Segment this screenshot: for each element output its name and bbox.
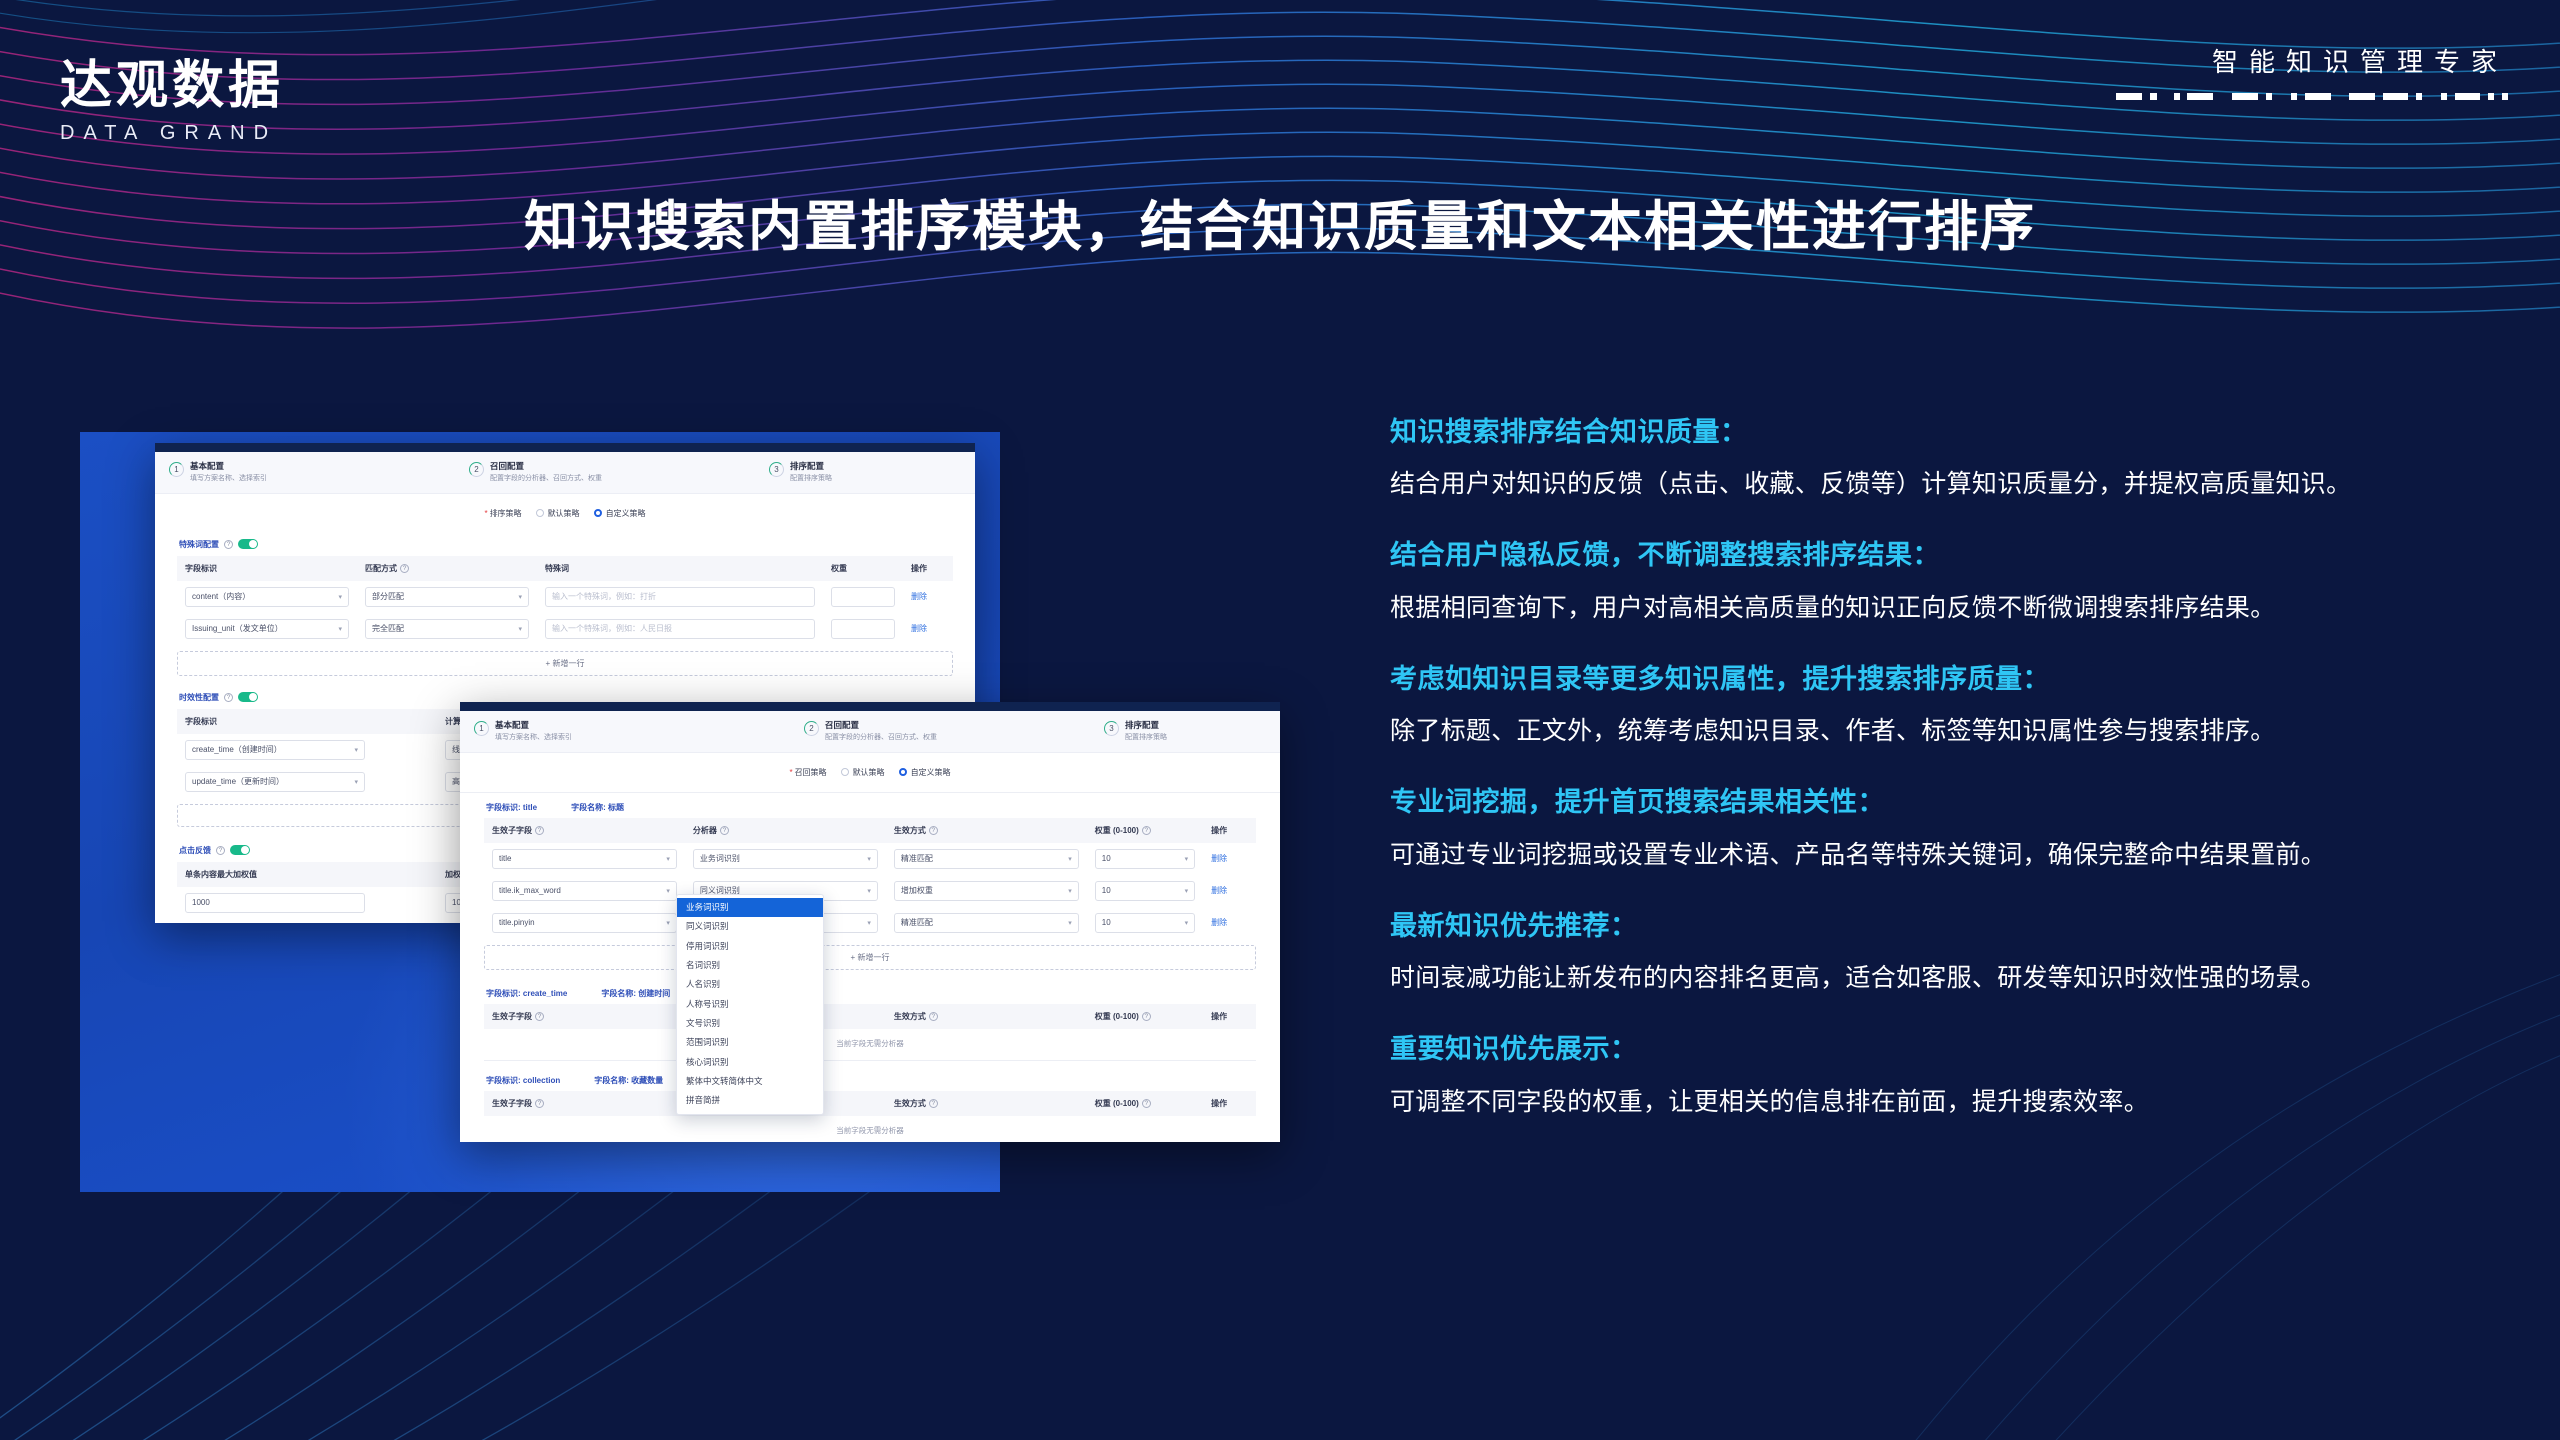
col-mode: 生效方式?	[886, 818, 1087, 843]
chevron-down-icon: ▾	[354, 746, 358, 754]
col-subfield: 生效子字段?	[484, 1091, 685, 1116]
chevron-down-icon: ▾	[338, 593, 342, 601]
match-mode-select[interactable]: 完全匹配▾	[365, 619, 529, 639]
radio-dot	[536, 509, 544, 517]
step-subtitle: 填写方案名称、选择索引	[190, 474, 267, 483]
strategy-label: *召回策略	[789, 767, 826, 778]
dropdown-option[interactable]: 核心词识别	[677, 1053, 823, 1072]
col-action: 操作	[1203, 818, 1256, 843]
step-title: 基本配置	[190, 461, 267, 472]
delete-row-link[interactable]: 删除	[1211, 918, 1227, 927]
col-field-id: 字段标识	[177, 709, 437, 734]
tagline-text: 智能知识管理专家	[2116, 42, 2508, 79]
chevron-down-icon: ▾	[1068, 855, 1072, 863]
create-time-table: 生效子字段? 生效方式? 权重 (0-100)? 操作	[484, 1004, 1256, 1029]
table-header-row: 生效子字段? 分析器? 生效方式? 权重 (0-100)? 操作	[484, 818, 1256, 843]
step-subtitle: 配置字段的分析器、召回方式、权重	[490, 474, 602, 483]
section-title: 时效性配置	[179, 692, 219, 703]
subfield-select[interactable]: title.pinyin▾	[492, 913, 677, 933]
radio-dot	[899, 768, 907, 776]
radio-label: 默认策略	[548, 508, 580, 519]
chevron-down-icon: ▾	[518, 593, 522, 601]
subfield-select[interactable]: title.ik_max_word▾	[492, 881, 677, 901]
copy-heading: 知识搜索排序结合知识质量：	[1390, 415, 2520, 451]
dropdown-option[interactable]: 停用词识别	[677, 937, 823, 956]
brand-name-cn: 达观数据	[60, 60, 284, 112]
step-number: 2	[469, 462, 484, 477]
radio-dot	[841, 768, 849, 776]
table-header-row: 生效子字段? 生效方式? 权重 (0-100)? 操作	[484, 1004, 1256, 1029]
stepper-back: 1 基本配置 填写方案名称、选择索引 2 召回配置 配置字段的分析器、召回方式、…	[155, 452, 975, 494]
radio-dot	[594, 509, 602, 517]
chevron-down-icon: ▾	[666, 919, 670, 927]
field-header-title: 字段标识: title 字段名称: 标题	[484, 793, 1256, 818]
dropdown-option[interactable]: 范围词识别	[677, 1033, 823, 1052]
field-id-label: 字段标识: title	[486, 802, 537, 813]
help-icon[interactable]: ?	[720, 826, 729, 835]
col-mode: 生效方式?	[886, 1004, 1087, 1029]
add-row-button[interactable]: + 新增一行	[177, 651, 953, 676]
step-number: 1	[474, 721, 489, 736]
tagline-block: 智能知识管理专家	[2116, 42, 2508, 100]
strategy-radio-group-front[interactable]: *召回策略 默认策略 自定义策略	[460, 753, 1280, 790]
step-number: 1	[169, 462, 184, 477]
step-item[interactable]: 2 召回配置 配置字段的分析器、召回方式、权重	[804, 720, 1104, 743]
copy-body: 时间衰减功能让新发布的内容排名更高，适合如客服、研发等知识时效性强的场景。	[1390, 961, 2520, 996]
radio-default-strategy[interactable]: 默认策略	[841, 767, 885, 778]
section-toggle[interactable]	[230, 845, 250, 855]
chevron-down-icon: ▾	[1068, 919, 1072, 927]
no-analyzer-note: 当前字段无需分析器	[484, 1116, 1256, 1142]
chevron-down-icon: ▾	[666, 855, 670, 863]
delete-row-link[interactable]: 删除	[1211, 854, 1227, 863]
help-icon[interactable]: ?	[535, 826, 544, 835]
delete-row-link[interactable]: 删除	[911, 624, 927, 633]
collection-table: 生效子字段? 生效方式? 权重 (0-100)? 操作	[484, 1091, 1256, 1116]
chevron-down-icon: ▾	[1185, 855, 1189, 863]
help-icon[interactable]: ?	[535, 1099, 544, 1108]
step-subtitle: 配置排序策略	[790, 474, 832, 483]
weight-input[interactable]	[831, 619, 895, 639]
section-header-special-words: 特殊词配置 ?	[177, 531, 953, 556]
help-icon[interactable]: ?	[224, 540, 233, 549]
step-title: 基本配置	[495, 720, 572, 731]
page-title: 知识搜索内置排序模块，结合知识质量和文本相关性进行排序	[0, 182, 2560, 261]
table-row: Issuing_unit（发文单位）▾ 完全匹配▾ 输入一个特殊词，例如：人民日…	[177, 613, 953, 645]
table-header-row: 生效子字段? 生效方式? 权重 (0-100)? 操作	[484, 1091, 1256, 1116]
copy-body: 结合用户对知识的反馈（点击、收藏、反馈等）计算知识质量分，并提权高质量知识。	[1390, 467, 2520, 502]
dropdown-option[interactable]: 同义词识别	[677, 917, 823, 936]
help-icon[interactable]: ?	[1142, 826, 1151, 835]
weight-select[interactable]: 10▾	[1095, 881, 1195, 901]
chevron-down-icon: ▾	[867, 919, 871, 927]
table-row: content（内容）▾ 部分匹配▾ 输入一个特殊词，例如：打折 删除	[177, 581, 953, 613]
step-number: 3	[769, 462, 784, 477]
help-icon[interactable]: ?	[929, 826, 938, 835]
chevron-down-icon: ▾	[1185, 887, 1189, 895]
required-star: *	[789, 768, 792, 777]
col-action: 操作	[1203, 1004, 1256, 1029]
step-item[interactable]: 1 基本配置 填写方案名称、选择索引	[474, 720, 804, 743]
copy-body: 可通过专业词挖掘或设置专业术语、产品名等特殊关键词，确保完整命中结果置前。	[1390, 838, 2520, 873]
analyzer-select[interactable]: 业务词识别▾	[693, 849, 878, 869]
stepper-front: 1 基本配置 填写方案名称、选择索引 2 召回配置 配置字段的分析器、召回方式、…	[460, 711, 1280, 753]
section-title: 点击反馈	[179, 845, 211, 856]
field-id-select[interactable]: create_time（创建时间）▾	[185, 740, 365, 760]
brand-name-en: DATA GRAND	[60, 122, 284, 145]
chevron-down-icon: ▾	[1068, 887, 1072, 895]
dropdown-option[interactable]: 拼音简拼	[677, 1091, 823, 1110]
table-row: title.pinyin▾ 业务词识别▾ 精准匹配▾ 10▾ 删除	[484, 907, 1256, 939]
help-icon[interactable]: ?	[1142, 1012, 1151, 1021]
col-mode: 生效方式?	[886, 1091, 1087, 1116]
step-subtitle: 配置排序策略	[1125, 733, 1167, 742]
window-titlebar	[460, 702, 1280, 711]
mode-select[interactable]: 精准匹配▾	[894, 913, 1079, 933]
field-id-label: 字段标识: create_time	[486, 988, 567, 999]
step-item[interactable]: 2 召回配置 配置字段的分析器、召回方式、权重	[469, 461, 769, 484]
radio-label: 自定义策略	[606, 508, 646, 519]
help-icon[interactable]: ?	[216, 846, 225, 855]
delete-row-link[interactable]: 删除	[1211, 886, 1227, 895]
section-toggle[interactable]	[238, 692, 258, 702]
help-icon[interactable]: ?	[400, 564, 409, 573]
help-icon[interactable]: ?	[1142, 1099, 1151, 1108]
field-id-select[interactable]: content（内容）▾	[185, 587, 349, 607]
dropdown-option[interactable]: 业务词识别	[677, 898, 823, 917]
step-number: 3	[1104, 721, 1119, 736]
dropdown-option[interactable]: 人名识别	[677, 975, 823, 994]
copy-block: 结合用户隐私反馈，不断调整搜索排序结果： 根据相同查询下，用户对高相关高质量的知…	[1390, 538, 2520, 625]
step-number: 2	[804, 721, 819, 736]
dropdown-option[interactable]: 繁体中文转简体中文	[677, 1072, 823, 1091]
field-name-label: 字段名称: 创建时间	[601, 988, 670, 999]
strategy-radio-group-back[interactable]: *排序策略 默认策略 自定义策略	[155, 494, 975, 531]
required-star: *	[484, 509, 487, 518]
copy-body: 除了标题、正文外，统筹考虑知识目录、作者、标签等知识属性参与搜索排序。	[1390, 714, 2520, 749]
col-special-word: 特殊词	[537, 556, 823, 581]
radio-label: 默认策略	[853, 767, 885, 778]
col-match-mode: 匹配方式?	[357, 556, 537, 581]
window-titlebar	[155, 443, 975, 452]
field-name-label: 字段名称: 收藏数量	[594, 1075, 663, 1086]
chevron-down-icon: ▾	[867, 855, 871, 863]
chevron-down-icon: ▾	[338, 625, 342, 633]
chevron-down-icon: ▾	[666, 887, 670, 895]
chevron-down-icon: ▾	[518, 625, 522, 633]
feature-copy-column: 知识搜索排序结合知识质量： 结合用户对知识的反馈（点击、收藏、反馈等）计算知识质…	[1390, 415, 2520, 1156]
screenshot-window-front[interactable]: 1 基本配置 填写方案名称、选择索引 2 召回配置 配置字段的分析器、召回方式、…	[460, 702, 1280, 1142]
step-subtitle: 填写方案名称、选择索引	[495, 733, 572, 742]
col-subfield: 生效子字段?	[484, 1004, 685, 1029]
col-analyzer: 分析器?	[685, 818, 886, 843]
dropdown-option[interactable]: 名词识别	[677, 956, 823, 975]
step-title: 排序配置	[1125, 720, 1167, 731]
col-max-weight: 单条内容最大加权值	[177, 862, 437, 887]
dropdown-option[interactable]: 文号识别	[677, 1014, 823, 1033]
copy-heading: 最新知识优先推荐：	[1390, 909, 2520, 945]
step-subtitle: 配置字段的分析器、召回方式、权重	[825, 733, 937, 742]
step-item[interactable]: 3 排序配置 配置排序策略	[1104, 720, 1167, 743]
help-icon[interactable]: ?	[535, 1012, 544, 1021]
col-weight: 权重 (0-100)?	[1087, 818, 1203, 843]
section-toggle[interactable]	[238, 539, 258, 549]
col-field-id: 字段标识	[177, 556, 357, 581]
recall-config-table: 生效子字段? 分析器? 生效方式? 权重 (0-100)? 操作 title▾ …	[484, 818, 1256, 939]
copy-block: 重要知识优先展示： 可调整不同字段的权重，让更相关的信息排在前面，提升搜索效率。	[1390, 1032, 2520, 1119]
chevron-down-icon: ▾	[867, 887, 871, 895]
step-title: 召回配置	[490, 461, 602, 472]
radio-custom-strategy[interactable]: 自定义策略	[594, 508, 646, 519]
col-weight: 权重 (0-100)?	[1087, 1091, 1203, 1116]
col-action: 操作	[903, 556, 953, 581]
chevron-down-icon: ▾	[1185, 919, 1189, 927]
field-header-create-time: 字段标识: create_time 字段名称: 创建时间	[484, 972, 1256, 1004]
field-id-select[interactable]: update_time（更新时间）▾	[185, 772, 365, 792]
field-name-label: 字段名称: 标题	[571, 802, 624, 813]
brand-logo: 达观数据 DATA GRAND	[60, 60, 284, 145]
copy-heading: 结合用户隐私反馈，不断调整搜索排序结果：	[1390, 538, 2520, 574]
mode-select[interactable]: 精准匹配▾	[894, 849, 1079, 869]
copy-block: 考虑如知识目录等更多知识属性，提升搜索排序质量： 除了标题、正文外，统筹考虑知识…	[1390, 662, 2520, 749]
copy-body: 根据相同查询下，用户对高相关高质量的知识正向反馈不断微调搜索排序结果。	[1390, 591, 2520, 626]
strategy-label: *排序策略	[484, 508, 521, 519]
step-title: 召回配置	[825, 720, 937, 731]
section-title: 特殊词配置	[179, 539, 219, 550]
col-subfield: 生效子字段?	[484, 818, 685, 843]
copy-body: 可调整不同字段的权重，让更相关的信息排在前面，提升搜索效率。	[1390, 1085, 2520, 1120]
field-id-label: 字段标识: collection	[486, 1075, 560, 1086]
col-action: 操作	[1203, 1091, 1256, 1116]
table-header-row: 字段标识 匹配方式? 特殊词 权重 操作	[177, 556, 953, 581]
tagline-morse-rule	[2116, 93, 2508, 100]
radio-label: 自定义策略	[911, 767, 951, 778]
help-icon[interactable]: ?	[929, 1012, 938, 1021]
no-analyzer-note: 当前字段无需分析器	[484, 1029, 1256, 1058]
analyzer-dropdown-menu[interactable]: 业务词识别 同义词识别 停用词识别 名词识别 人名识别 人称号识别 文号识别 范…	[676, 894, 824, 1115]
step-title: 排序配置	[790, 461, 832, 472]
weight-select[interactable]: 10▾	[1095, 913, 1195, 933]
match-mode-select[interactable]: 部分匹配▾	[365, 587, 529, 607]
radio-default-strategy[interactable]: 默认策略	[536, 508, 580, 519]
field-header-collection: 字段标识: collection 字段名称: 收藏数量	[484, 1061, 1256, 1091]
copy-heading: 专业词挖掘，提升首页搜索结果相关性：	[1390, 785, 2520, 821]
mode-select[interactable]: 增加权重▾	[894, 881, 1079, 901]
step-item[interactable]: 1 基本配置 填写方案名称、选择索引	[169, 461, 469, 484]
special-word-input[interactable]: 输入一个特殊词，例如：打折	[545, 587, 815, 607]
table-row: title.ik_max_word▾ 同义词识别▾ 增加权重▾ 10▾ 删除	[484, 875, 1256, 907]
copy-block: 知识搜索排序结合知识质量： 结合用户对知识的反馈（点击、收藏、反馈等）计算知识质…	[1390, 415, 2520, 502]
subfield-select[interactable]: title▾	[492, 849, 677, 869]
radio-custom-strategy[interactable]: 自定义策略	[899, 767, 951, 778]
help-icon[interactable]: ?	[929, 1099, 938, 1108]
weight-select[interactable]: 10▾	[1095, 849, 1195, 869]
chevron-down-icon: ▾	[354, 778, 358, 786]
max-weight-input[interactable]: 1000	[185, 893, 365, 913]
delete-row-link[interactable]: 删除	[911, 592, 927, 601]
special-word-input[interactable]: 输入一个特殊词，例如：人民日报	[545, 619, 815, 639]
copy-block: 专业词挖掘，提升首页搜索结果相关性： 可通过专业词挖掘或设置专业术语、产品名等特…	[1390, 785, 2520, 872]
special-words-table: 字段标识 匹配方式? 特殊词 权重 操作 content（内容）▾ 部分匹配▾ …	[177, 556, 953, 645]
col-weight: 权重	[823, 556, 903, 581]
help-icon[interactable]: ?	[224, 693, 233, 702]
copy-heading: 重要知识优先展示：	[1390, 1032, 2520, 1068]
col-weight: 权重 (0-100)?	[1087, 1004, 1203, 1029]
table-row: title▾ 业务词识别▾ 精准匹配▾ 10▾ 删除	[484, 843, 1256, 875]
copy-block: 最新知识优先推荐： 时间衰减功能让新发布的内容排名更高，适合如客服、研发等知识时…	[1390, 909, 2520, 996]
add-row-button[interactable]: + 新增一行	[484, 945, 1256, 970]
step-item[interactable]: 3 排序配置 配置排序策略	[769, 461, 832, 484]
weight-input[interactable]	[831, 587, 895, 607]
field-id-select[interactable]: Issuing_unit（发文单位）▾	[185, 619, 349, 639]
dropdown-option[interactable]: 人称号识别	[677, 995, 823, 1014]
copy-heading: 考虑如知识目录等更多知识属性，提升搜索排序质量：	[1390, 662, 2520, 698]
